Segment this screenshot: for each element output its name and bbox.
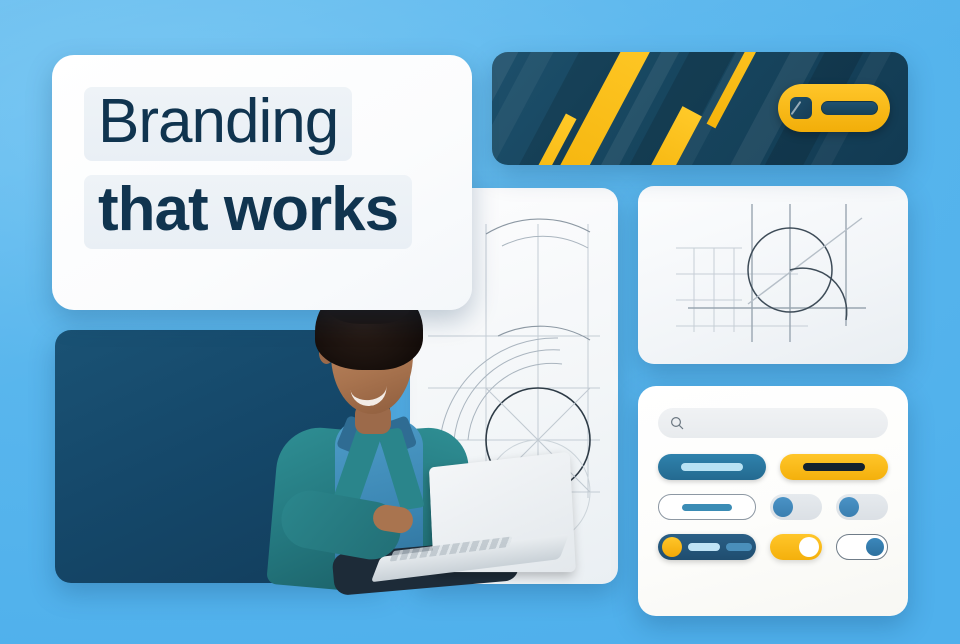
toggle-three[interactable]	[770, 534, 822, 560]
search-icon	[670, 416, 684, 430]
toggle-knob	[839, 497, 859, 517]
ui-kit-card	[638, 386, 908, 616]
headline-line-2: that works	[84, 175, 412, 249]
search-input[interactable]	[658, 408, 888, 438]
accent-button[interactable]	[780, 454, 888, 480]
toggle-one[interactable]	[770, 494, 822, 520]
poster-canvas: Branding that works	[0, 0, 960, 644]
person-photo-card	[55, 330, 390, 583]
square-edit-icon	[790, 97, 812, 119]
segmented-control[interactable]	[658, 534, 756, 560]
toggle-knob	[799, 537, 819, 557]
secondary-button[interactable]	[658, 494, 756, 520]
diagonal-stripe-banner	[492, 52, 908, 165]
logo-sketch-card	[638, 186, 908, 364]
ui-kit-row	[658, 534, 888, 560]
toggle-two[interactable]	[836, 494, 888, 520]
banner-label-bar	[821, 101, 878, 115]
primary-button[interactable]	[658, 454, 766, 480]
ui-kit-row	[658, 494, 888, 520]
ui-kit-row	[658, 454, 888, 480]
banner-action-button[interactable]	[778, 84, 890, 132]
segment-bar-active	[688, 543, 720, 551]
headline-line-1: Branding	[84, 87, 352, 161]
button-label-bar	[681, 463, 744, 471]
toggle-knob	[773, 497, 793, 517]
headline-card: Branding that works	[52, 55, 472, 310]
toggle-four[interactable]	[836, 534, 888, 560]
segment-indicator-dot	[662, 537, 682, 557]
button-label-bar	[803, 463, 866, 471]
logo-grid-sketch	[638, 186, 908, 364]
toggle-knob	[866, 538, 884, 556]
segment-bar-inactive	[726, 543, 752, 551]
button-label-bar	[682, 504, 732, 511]
